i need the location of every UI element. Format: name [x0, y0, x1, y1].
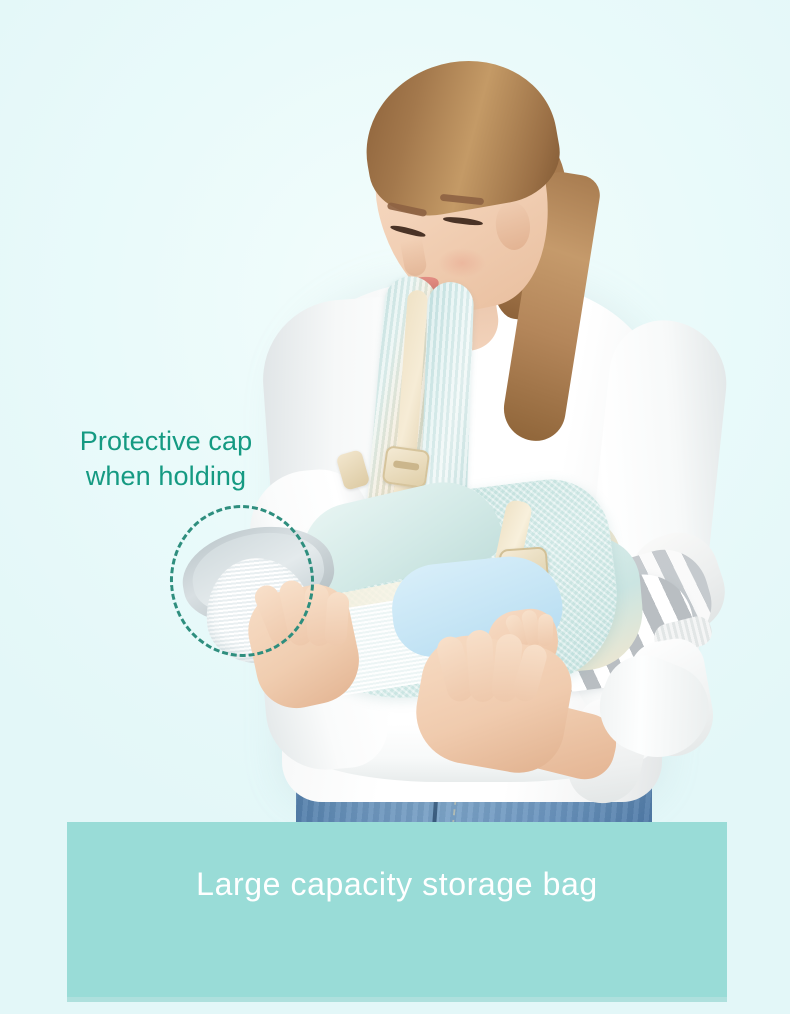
banner-bottom-edge [67, 997, 727, 1002]
product-marketing-image: Protective cap when holding Large capaci… [0, 0, 790, 1014]
protective-cap-label: Protective cap when holding [40, 424, 292, 494]
finger [324, 591, 350, 646]
baby-finger [537, 614, 553, 647]
carrier-buckle-chest [382, 445, 431, 489]
cheek-blush [438, 248, 486, 278]
storage-bag-banner [67, 822, 727, 1000]
banner-caption: Large capacity storage bag [67, 862, 727, 906]
